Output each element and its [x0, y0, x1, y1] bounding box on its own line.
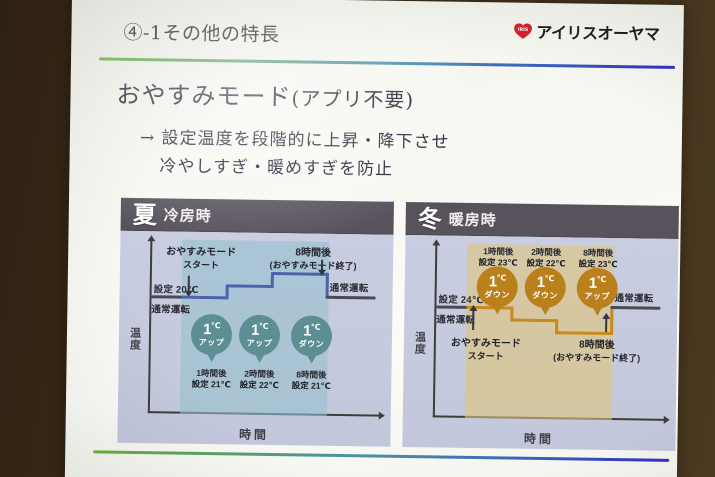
panel-winter-chart: 温度 設定 24℃	[402, 235, 678, 451]
summer-step-note-0-setting: 設定 21℃	[192, 379, 231, 390]
summer-riser-0	[226, 285, 229, 299]
summer-step-note-1-setting: 設定 22℃	[240, 380, 279, 391]
winter-end-note-line2: (おやすみモード終了)	[542, 352, 652, 365]
summer-step-badge-1-deg: 1℃	[251, 323, 268, 338]
brand-name: アイリスオーヤマ	[536, 19, 660, 45]
feature-body-line-2: 冷やしすぎ・暖めすぎを防止	[159, 151, 393, 179]
panel-summer: 夏 冷房時 温度	[117, 198, 394, 447]
summer-step-badge-0-unit: ℃	[211, 321, 220, 330]
summer-plot-area: 設定 20℃ 通常運転 通常運転 おやすみモード スタート 8時間後 (おやすみ	[148, 239, 384, 416]
winter-step-badge-1-unit: ℃	[545, 274, 554, 283]
winter-step-badge-0-unit: ℃	[497, 273, 506, 282]
summer-step-badge-1-unit: ℃	[259, 322, 268, 331]
winter-normal-segment-right	[610, 306, 660, 309]
summer-start-arrow-icon	[188, 276, 190, 292]
summer-step-note-2: 8時間後 設定 21℃	[280, 369, 342, 393]
panel-winter-header: 冬 暖房時	[405, 202, 678, 239]
winter-step-badge-0-dir: ダウン	[484, 291, 510, 299]
page-title: ④-1その他の特長	[123, 18, 279, 47]
projected-slide: ④-1その他の特長 IRIS アイリスオーヤマ おやすみモード(アプリ不要) →…	[65, 0, 684, 477]
summer-start-note-line1: おやすみモード	[166, 246, 236, 258]
feature-body-line-1: → 設定温度を段階的に上昇・降下させ	[140, 123, 450, 153]
winter-step-badge-2-deg: 1℃	[589, 276, 606, 291]
feature-heading-paren: (アプリ不要)	[291, 86, 414, 112]
winter-step-badge-2-unit: ℃	[597, 275, 606, 284]
feature-heading: おやすみモード(アプリ不要)	[116, 75, 414, 114]
winter-x-axis-label: 時間	[402, 428, 675, 449]
winter-step-note-2: 8時間後 設定 23℃	[567, 247, 629, 271]
panel-winter: 冬 暖房時 温度	[402, 202, 679, 451]
summer-step-badge-1-dir: アップ	[247, 340, 273, 348]
summer-step-note-2-setting: 設定 21℃	[292, 381, 331, 392]
winter-step-note-0-setting: 設定 23℃	[478, 258, 517, 269]
summer-step-badge-0-deg: 1℃	[203, 322, 220, 337]
winter-start-note-line1: おやすみモード	[451, 338, 521, 350]
winter-step-badge-1-dir: ダウン	[532, 292, 558, 300]
panel-winter-season: 冬	[418, 207, 442, 231]
summer-end-note-line2: (おやすみモード終了)	[258, 259, 368, 272]
summer-normal-label-left: 通常運転	[151, 301, 190, 316]
feature-heading-main: おやすみモード	[116, 81, 291, 112]
panel-summer-chart: 温度	[117, 231, 393, 447]
summer-y-axis	[148, 239, 152, 413]
winter-normal-segment-left	[436, 305, 468, 308]
summer-normal-segment-right	[326, 296, 376, 299]
winter-start-note: おやすみモード スタート	[438, 337, 534, 362]
panel-summer-header: 夏 冷房時	[121, 198, 394, 235]
winter-step-note-1-setting: 設定 22℃	[526, 258, 565, 269]
winter-end-note: 8時間後 (おやすみモード終了)	[542, 339, 652, 364]
winter-riser-2	[610, 308, 613, 335]
winter-start-arrow-icon	[472, 310, 474, 330]
summer-step-badge-2-dir: ダウン	[299, 340, 325, 348]
summer-end-note: 8時間後 (おやすみモード終了)	[258, 247, 368, 272]
winter-normal-label-left: 通常運転	[436, 311, 475, 326]
iris-heart-logo-icon: IRIS	[513, 22, 532, 39]
winter-step-note-2-time: 8時間後	[583, 248, 613, 258]
winter-step-badge-0-deg: 1℃	[489, 274, 506, 289]
summer-step-badge-2-deg: 1℃	[303, 323, 320, 338]
panel-summer-season-sub: 冷房時	[164, 204, 212, 226]
summer-riser-2	[326, 273, 329, 298]
summer-step-note-1-time: 2時間後	[244, 369, 274, 379]
summer-y-axis-label: 温度	[128, 327, 140, 351]
summer-start-note-line2: スタート	[156, 259, 246, 272]
summer-step-badge-2-unit: ℃	[311, 323, 320, 332]
summer-step-badge-0-dir: アップ	[199, 339, 225, 347]
winter-baseline-label: 設定 24℃	[438, 291, 483, 306]
winter-step-badge-2-dir: アップ	[584, 293, 610, 301]
winter-y-axis	[433, 243, 437, 417]
winter-plot-area: 設定 24℃ 通常運転 通常運転 1℃ ダウン 1℃ ダウン	[433, 243, 669, 420]
panel-winter-season-sub: 暖房時	[449, 209, 497, 231]
winter-step-note-1-time: 2時間後	[531, 247, 561, 257]
summer-x-axis-label: 時間	[117, 424, 390, 445]
panel-summer-season: 夏	[133, 202, 157, 226]
brand-logo: IRIS アイリスオーヤマ	[513, 19, 660, 45]
winter-y-axis-label: 温度	[413, 331, 425, 355]
winter-end-note-line1: 8時間後	[579, 340, 615, 352]
header-divider-line	[99, 57, 675, 68]
winter-normal-label-right: 通常運転	[614, 290, 653, 305]
summer-normal-label-right: 通常運転	[330, 280, 369, 295]
summer-end-arrow-icon	[321, 260, 323, 271]
winter-start-note-line2: スタート	[438, 350, 534, 363]
screenshot-root: ④-1その他の特長 IRIS アイリスオーヤマ おやすみモード(アプリ不要) →…	[0, 0, 715, 477]
footer-divider-line	[93, 450, 669, 461]
summer-start-note: おやすみモード スタート	[156, 246, 246, 271]
summer-end-note-line1: 8時間後	[295, 247, 331, 259]
winter-end-arrow-icon	[605, 318, 607, 332]
winter-step-note-2-setting: 設定 23℃	[578, 259, 617, 270]
summer-normal-segment-left	[152, 295, 184, 298]
summer-riser-1	[271, 273, 274, 288]
summer-step-note-0-time: 1時間後	[196, 368, 226, 378]
svg-text:IRIS: IRIS	[518, 26, 528, 32]
winter-step-badge-1-deg: 1℃	[537, 275, 554, 290]
winter-step-note-0-time: 1時間後	[483, 246, 513, 256]
summer-step-note-2-time: 8時間後	[296, 369, 326, 379]
